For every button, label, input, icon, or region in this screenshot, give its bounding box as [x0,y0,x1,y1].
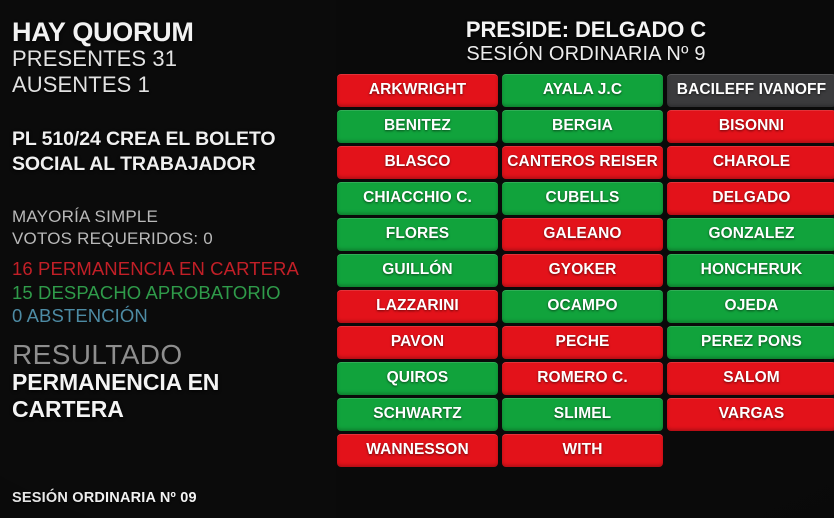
vote-cell[interactable]: OJEDA [667,290,834,323]
bill-title: PL 510/24 CREA EL BOLETO SOCIAL AL TRABA… [12,127,324,176]
ausentes-count: AUSENTES 1 [12,72,324,98]
legislator-name: BLASCO [384,153,450,171]
majority-type: MAYORÍA SIMPLE [12,206,324,228]
legislator-name: GALEANO [543,225,621,243]
result-label: RESULTADO [12,341,324,369]
vote-cell[interactable]: PEREZ PONS [667,326,834,359]
legislator-name: CHIACCHIO C. [363,189,472,207]
vote-cell[interactable]: VARGAS [667,398,834,431]
legislator-name: SLIMEL [554,405,611,423]
tally-permanencia-en-cartera: 16 PERMANENCIA EN CARTERA [12,257,324,280]
vote-cell[interactable]: CUBELLS [502,182,663,215]
result-value-line-1: PERMANENCIA EN [12,369,302,396]
session-footer: SESIÓN ORDINARIA Nº 09 [12,490,197,506]
result-value-line-2: CARTERA [12,396,302,423]
legislator-name: PEREZ PONS [701,333,802,351]
vote-cell[interactable]: OCAMPO [502,290,663,323]
bill-title-line-1: PL 510/24 CREA EL BOLETO [12,127,324,151]
legislator-name: SALOM [723,369,779,387]
legislator-name: QUIROS [387,369,449,387]
result-block: RESULTADO PERMANENCIA EN CARTERA [12,341,324,423]
legislator-name: ROMERO C. [537,369,627,387]
legislator-name: FLORES [386,225,449,243]
legislator-name: BERGIA [552,117,613,135]
vote-cell[interactable]: GALEANO [502,218,663,251]
vote-tally: 16 PERMANENCIA EN CARTERA 15 DESPACHO AP… [12,257,324,327]
vote-cell[interactable]: BACILEFF IVANOFF [667,74,834,107]
legislator-name: PECHE [556,333,610,351]
legislator-name: PAVON [391,333,444,351]
legislator-name: GONZALEZ [708,225,794,243]
legislator-name: ARKWRIGHT [369,81,466,99]
vote-cell-empty [667,434,834,467]
vote-cell[interactable]: CANTEROS REISER [502,146,663,179]
session-info-panel: HAY QUORUM PRESENTES 31 AUSENTES 1 PL 51… [0,0,336,518]
vote-cell[interactable]: GONZALEZ [667,218,834,251]
presentes-count: PRESENTES 31 [12,46,324,72]
majority-requirements: MAYORÍA SIMPLE VOTOS REQUERIDOS: 0 [12,206,324,250]
legislator-name: CANTEROS REISER [507,153,658,171]
legislator-name: WITH [563,441,603,459]
voting-board: HAY QUORUM PRESENTES 31 AUSENTES 1 PL 51… [0,0,834,518]
vote-cell[interactable]: SALOM [667,362,834,395]
vote-cell[interactable]: FLORES [337,218,498,251]
vote-cell[interactable]: DELGADO [667,182,834,215]
tally-abstencion: 0 ABSTENCIÓN [12,304,324,327]
vote-grid-panel: PRESIDE: DELGADO C SESIÓN ORDINARIA Nº 9… [336,0,834,518]
vote-cell[interactable]: GUILLÓN [337,254,498,287]
legislator-name: AYALA J.C [543,81,622,99]
vote-cell[interactable]: BERGIA [502,110,663,143]
legislator-name: OJEDA [725,297,779,315]
vote-cell[interactable]: PAVON [337,326,498,359]
legislator-name: GYOKER [549,261,617,279]
legislator-name: OCAMPO [547,297,617,315]
legislator-name: BISONNI [719,117,784,135]
vote-cell[interactable]: BENITEZ [337,110,498,143]
vote-cell[interactable]: HONCHERUK [667,254,834,287]
legislator-name: BENITEZ [384,117,451,135]
vote-cell[interactable]: QUIROS [337,362,498,395]
legislator-name: BACILEFF IVANOFF [677,81,826,99]
vote-cell[interactable]: ARKWRIGHT [337,74,498,107]
presiding-officer: PRESIDE: DELGADO C [336,18,834,42]
result-value: PERMANENCIA EN CARTERA [12,369,302,423]
vote-cell[interactable]: CHIACCHIO C. [337,182,498,215]
legislator-name: LAZZARINI [376,297,459,315]
tally-despacho-aprobatorio: 15 DESPACHO APROBATORIO [12,281,324,304]
vote-cell[interactable]: LAZZARINI [337,290,498,323]
session-number: SESIÓN ORDINARIA Nº 9 [336,42,834,66]
quorum-status-title: HAY QUORUM [12,18,324,46]
vote-grid: ARKWRIGHTAYALA J.CBACILEFF IVANOFFBENITE… [336,74,834,467]
vote-cell[interactable]: SLIMEL [502,398,663,431]
vote-cell[interactable]: ROMERO C. [502,362,663,395]
legislator-name: WANNESSON [366,441,469,459]
legislator-name: HONCHERUK [701,261,803,279]
legislator-name: CUBELLS [546,189,620,207]
vote-cell[interactable]: SCHWARTZ [337,398,498,431]
vote-cell[interactable]: BISONNI [667,110,834,143]
legislator-name: GUILLÓN [382,261,452,279]
legislator-name: CHAROLE [713,153,790,171]
bill-title-line-2: SOCIAL AL TRABAJADOR [12,152,324,176]
legislator-name: SCHWARTZ [373,405,462,423]
vote-cell[interactable]: BLASCO [337,146,498,179]
vote-cell[interactable]: PECHE [502,326,663,359]
legislator-name: VARGAS [719,405,785,423]
vote-cell[interactable]: CHAROLE [667,146,834,179]
legislator-name: DELGADO [712,189,790,207]
vote-cell[interactable]: AYALA J.C [502,74,663,107]
vote-cell[interactable]: WITH [502,434,663,467]
votes-required: VOTOS REQUERIDOS: 0 [12,228,324,250]
vote-cell[interactable]: WANNESSON [337,434,498,467]
vote-cell[interactable]: GYOKER [502,254,663,287]
